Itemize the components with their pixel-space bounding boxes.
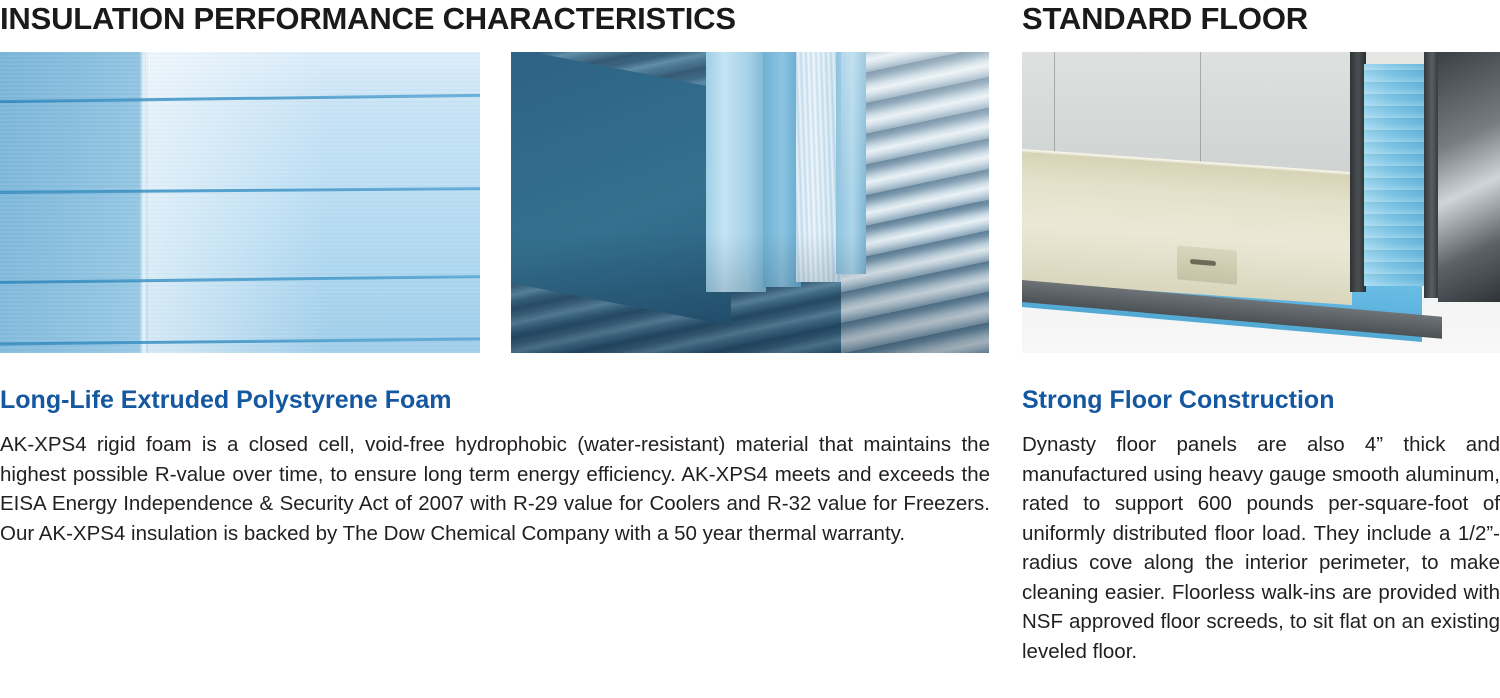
page-title-standard-floor: STANDARD FLOOR: [1022, 2, 1308, 36]
body-text-insulation: AK-XPS4 rigid foam is a closed cell, voi…: [0, 430, 990, 548]
foam-stack-photo: [0, 52, 480, 353]
page-title-insulation: INSULATION PERFORMANCE CHARACTERISTICS: [0, 2, 736, 36]
panel-photo-highlight: [841, 52, 989, 202]
door-jamb-foam-core: [1364, 64, 1426, 286]
exterior-wall-panel: [1438, 52, 1500, 302]
foam-panel-photo: [511, 52, 989, 353]
standard-floor-photo: [1022, 52, 1500, 353]
subheading-long-life-foam: Long-Life Extruded Polystyrene Foam: [0, 385, 451, 415]
foam-stack-texture: [0, 52, 480, 353]
aluminum-floor-panel: [1022, 152, 1352, 305]
subheading-strong-floor: Strong Floor Construction: [1022, 385, 1334, 415]
panel-photo-shadow: [511, 233, 989, 353]
brochure-page: INSULATION PERFORMANCE CHARACTERISTICS L…: [0, 0, 1500, 698]
body-text-standard-floor: Dynasty floor panels are also 4” thick a…: [1022, 430, 1500, 666]
